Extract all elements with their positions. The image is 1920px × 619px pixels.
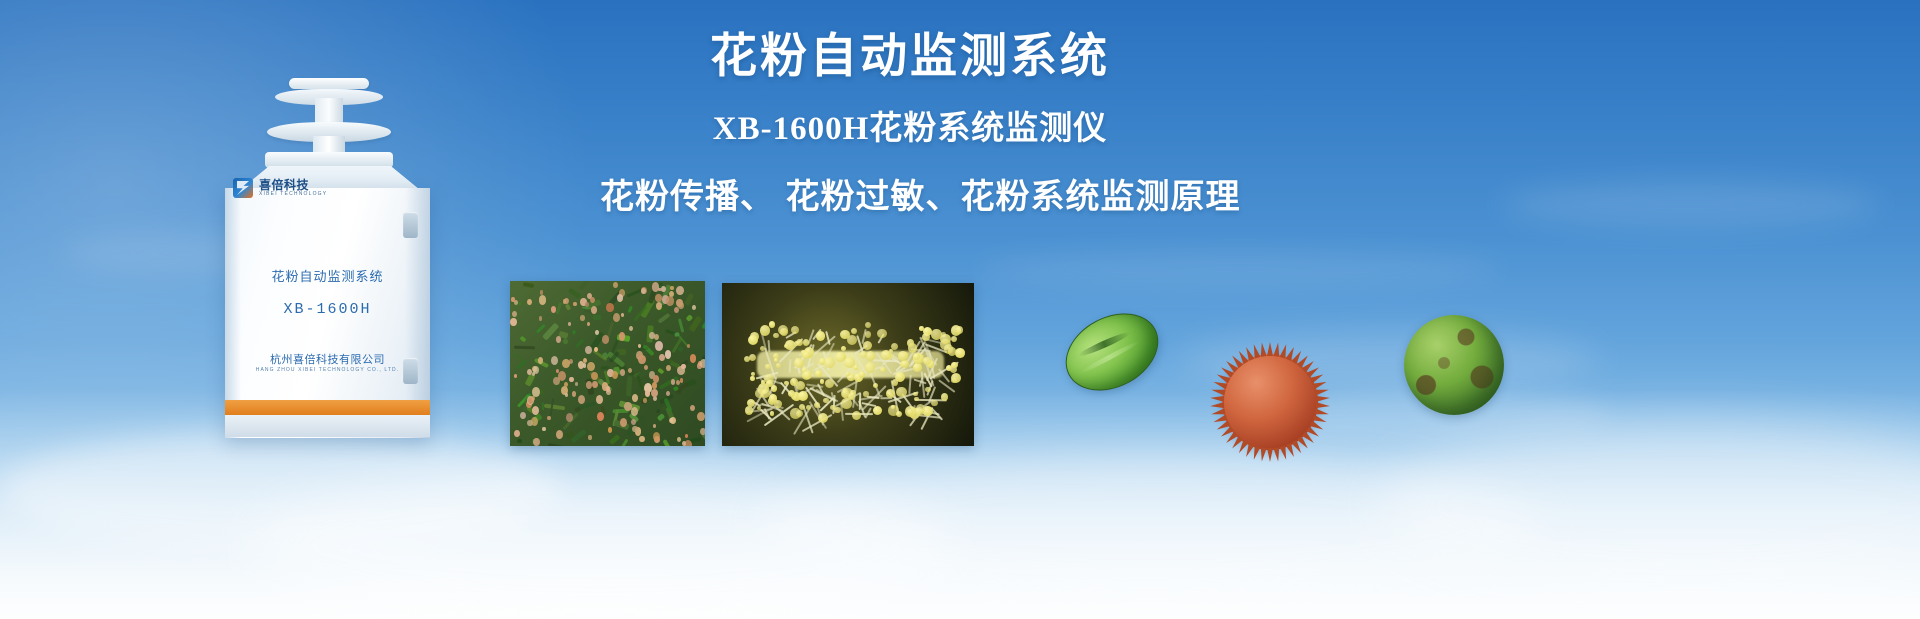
catkin-anther xyxy=(803,371,811,379)
cypress-cone xyxy=(551,356,558,365)
cypress-cone xyxy=(649,332,654,339)
catkin-filament xyxy=(908,375,911,394)
brand-name-cn: 喜倍科技 xyxy=(259,179,327,192)
catkin-anther xyxy=(913,363,922,372)
cypress-cone xyxy=(671,379,675,385)
cypress-cone xyxy=(652,282,659,291)
cypress-cone xyxy=(655,294,662,302)
catkin-anther xyxy=(951,362,958,369)
cypress-cone xyxy=(533,366,539,374)
catkin-anther xyxy=(788,390,795,397)
cypress-cone xyxy=(556,430,563,439)
catkin-anther xyxy=(745,406,754,415)
cypress-cone xyxy=(606,303,613,312)
cypress-cone xyxy=(587,322,591,327)
cypress-cone xyxy=(651,389,658,397)
cypress-foliage xyxy=(535,324,545,334)
cypress-foliage xyxy=(519,336,526,343)
cypress-cone xyxy=(613,282,618,288)
catkin-anther xyxy=(784,344,789,349)
cypress-cone xyxy=(511,297,515,302)
pollen-spine xyxy=(1210,402,1224,409)
cypress-cone xyxy=(514,374,517,378)
catkin-anther xyxy=(886,389,895,398)
cypress-cone xyxy=(564,382,568,387)
cloud-wisp xyxy=(980,250,1500,290)
brand-text: 喜倍科技 XIBEI TECHNOLOGY xyxy=(259,179,327,197)
cypress-cone xyxy=(690,354,697,362)
cypress-foliage xyxy=(639,414,644,419)
cypress-foliage xyxy=(677,319,684,333)
device-top-plate xyxy=(289,78,369,89)
device-latch-upper[interactable] xyxy=(403,212,418,238)
catkin-anther xyxy=(771,385,777,391)
cypress-cone xyxy=(592,381,598,389)
catkin-anther xyxy=(865,362,875,372)
cypress-cone xyxy=(547,416,551,421)
cypress-cone xyxy=(558,371,566,381)
catkin-anther xyxy=(841,346,846,351)
catkin-anther xyxy=(907,339,915,347)
cypress-cone xyxy=(685,434,688,438)
cypress-cone xyxy=(542,427,546,432)
catkin-anther xyxy=(951,373,962,384)
cypress-cone xyxy=(588,435,592,439)
xibei-logo-icon xyxy=(233,178,253,198)
pollen-analyzer-device: 喜倍科技 XIBEI TECHNOLOGY 花粉自动监测系统 XB-1600H … xyxy=(205,78,455,438)
cypress-cone xyxy=(670,286,674,291)
cypress-cone xyxy=(656,302,662,310)
cypress-foliage xyxy=(608,434,620,445)
cypress-cone xyxy=(639,436,644,443)
catkin-filament xyxy=(767,340,770,353)
cypress-cone xyxy=(687,344,690,348)
pollen-spine xyxy=(1267,448,1273,462)
cypress-foliage xyxy=(572,330,575,334)
cypress-cone xyxy=(578,361,584,368)
cypress-foliage xyxy=(523,282,534,288)
catkin-anther xyxy=(760,325,770,335)
spiky-grain xyxy=(1222,354,1318,450)
catkin-anther xyxy=(859,371,865,377)
pollen-spine xyxy=(1210,395,1224,402)
cypress-cone xyxy=(573,302,576,306)
catkin-anther xyxy=(941,393,949,401)
cypress-foliage xyxy=(628,306,633,313)
cypress-cone xyxy=(590,297,595,303)
catkin-anther xyxy=(806,405,811,410)
catkin-anther xyxy=(940,334,950,344)
warty-grain xyxy=(1404,315,1504,415)
cypress-cone xyxy=(620,369,626,376)
device-foot xyxy=(225,415,430,437)
cypress-cone xyxy=(652,382,657,389)
cypress-cone xyxy=(631,407,639,417)
page-title: 花粉自动监测系统 xyxy=(600,28,1220,83)
cloud-wisp xyxy=(1500,180,1880,228)
catkin-anther xyxy=(798,391,808,401)
catkin-anther xyxy=(896,387,906,397)
cypress-cone xyxy=(617,294,623,302)
cypress-foliage xyxy=(567,287,581,299)
cypress-cone xyxy=(690,405,695,412)
cypress-cone xyxy=(632,426,637,432)
catkin-anther xyxy=(818,413,829,424)
cypress-foliage xyxy=(662,407,666,412)
cypress-cone xyxy=(608,427,613,433)
catkin-anther xyxy=(846,372,850,376)
cypress-cone xyxy=(692,305,696,310)
catkin-anther xyxy=(803,339,810,346)
cypress-cone xyxy=(578,395,585,404)
catkin-anther xyxy=(955,348,964,357)
cypress-cone xyxy=(580,315,584,320)
catkin-anther xyxy=(769,321,776,328)
cypress-foliage xyxy=(514,346,535,350)
headline-block: 花粉自动监测系统 XB-1600H花粉系统监测仪 花粉传播、 花粉过敏、花粉系统… xyxy=(600,28,1220,218)
cypress-cone xyxy=(697,412,705,421)
cypress-cone xyxy=(676,286,684,296)
cypress-cone xyxy=(539,316,542,320)
cypress-foliage xyxy=(658,413,666,421)
cypress-cone xyxy=(655,341,663,351)
catkin-anther xyxy=(802,351,810,359)
catkin-anther xyxy=(925,387,930,392)
cypress-cone xyxy=(520,412,526,420)
cypress-foliage xyxy=(662,439,673,446)
catkin-anther xyxy=(892,379,899,386)
catkin-anther xyxy=(748,335,758,345)
device-model-label: XB-1600H xyxy=(225,301,430,318)
subtitle-model: XB-1600H花粉系统监测仪 xyxy=(600,101,1220,149)
catkin-anther xyxy=(791,326,799,334)
cypress-cone xyxy=(510,318,516,326)
catkin-anther xyxy=(760,346,765,351)
cypress-cone xyxy=(539,295,547,305)
cypress-cone xyxy=(666,296,673,305)
cypress-foliage xyxy=(565,304,571,311)
cypress-cone xyxy=(612,371,619,379)
cypress-cone xyxy=(514,430,520,437)
cypress-foliage xyxy=(636,376,643,390)
catkin-anther xyxy=(815,370,822,377)
pollen-spine xyxy=(1316,395,1330,402)
cypress-cone xyxy=(585,346,591,354)
cypress-cone xyxy=(527,299,532,305)
catkin-anther xyxy=(854,365,858,369)
catkin-anther xyxy=(919,326,924,331)
cypress-foliage xyxy=(544,404,565,411)
cypress-cone xyxy=(556,336,562,343)
device-product-label: 花粉自动监测系统 xyxy=(225,266,430,285)
cypress-cone xyxy=(665,350,672,358)
cypress-cone xyxy=(512,311,517,317)
catkin-anther xyxy=(844,357,855,368)
catkin-pollen-photo xyxy=(722,283,974,446)
cypress-cone xyxy=(631,419,636,426)
catkin-anther xyxy=(915,407,924,416)
device-latch-lower[interactable] xyxy=(403,358,418,384)
catkin-anther xyxy=(931,400,937,406)
brand-name-en: XIBEI TECHNOLOGY xyxy=(259,192,327,197)
cypress-foliage xyxy=(618,438,628,446)
catkin-anther xyxy=(896,411,902,417)
device-head-plate xyxy=(265,152,393,168)
cypress-cone xyxy=(602,335,609,343)
catkin-anther xyxy=(796,339,803,346)
catkin-anther xyxy=(944,344,954,354)
cypress-cone xyxy=(653,424,656,428)
catkin-anther xyxy=(816,331,826,341)
catkin-anther xyxy=(770,411,775,416)
catkin-anther xyxy=(951,336,957,342)
cypress-cone xyxy=(613,313,620,322)
catkin-anther xyxy=(877,329,887,339)
cypress-cone xyxy=(531,417,538,425)
catkin-anther xyxy=(913,392,917,396)
cypress-foliage xyxy=(576,339,585,348)
catkin-anther xyxy=(863,341,873,351)
catkin-anther xyxy=(820,379,825,384)
device-brand-logo: 喜倍科技 XIBEI TECHNOLOGY xyxy=(233,178,327,198)
cypress-cone xyxy=(629,326,633,331)
device-base-stripe xyxy=(225,400,430,415)
cypress-cone xyxy=(585,302,589,307)
catkin-anther xyxy=(840,330,850,340)
catkin-anther xyxy=(866,351,875,360)
cypress-foliage xyxy=(626,376,632,397)
cypress-foliage xyxy=(562,338,569,345)
cypress-cone xyxy=(700,428,705,435)
cypress-foliage xyxy=(685,314,692,321)
catkin-anther xyxy=(784,381,788,385)
cypress-cone xyxy=(654,334,659,340)
cypress-foliage xyxy=(579,281,591,290)
subtitle-topics: 花粉传播、 花粉过敏、花粉系统监测原理 xyxy=(600,169,1220,218)
cypress-cone xyxy=(562,359,569,368)
cypress-foliage xyxy=(689,365,694,371)
cypress-cone xyxy=(572,391,576,396)
cypress-foliage xyxy=(517,438,523,443)
cypress-cone xyxy=(621,313,624,317)
cypress-cone xyxy=(532,387,540,397)
cypress-cone xyxy=(659,354,665,361)
cypress-foliage xyxy=(658,368,665,374)
cypress-cone xyxy=(596,395,604,404)
cypress-cone xyxy=(700,359,705,368)
catkin-anther xyxy=(852,411,862,421)
cypress-cone xyxy=(531,396,535,401)
cypress-cones-photo xyxy=(510,281,705,446)
cypress-cone xyxy=(606,386,611,392)
catkin-anther xyxy=(744,356,750,362)
catkin-anther xyxy=(851,328,857,334)
cypress-cone xyxy=(533,438,540,446)
catkin-anther xyxy=(750,376,754,380)
cypress-foliage xyxy=(556,303,562,315)
cypress-cone xyxy=(568,322,571,326)
catkin-anther xyxy=(865,322,871,328)
cypress-cone xyxy=(569,377,574,383)
cypress-cone xyxy=(540,290,544,294)
device-company-en: HANG ZHOU XIBEI TECHNOLOGY CO., LTD. xyxy=(225,367,430,373)
device-company-cn: 杭州喜倍科技有限公司 xyxy=(225,351,430,367)
cypress-cone xyxy=(645,390,650,397)
cypress-cone xyxy=(564,298,569,304)
catkin-anther xyxy=(773,333,778,338)
cypress-cone xyxy=(575,382,578,386)
cypress-foliage xyxy=(516,358,528,369)
catkin-anther xyxy=(841,389,850,398)
cypress-cone xyxy=(565,393,568,397)
catkin-anther xyxy=(799,404,805,410)
catkin-anther xyxy=(751,372,755,376)
catkin-anther xyxy=(898,351,907,360)
cypress-cone xyxy=(680,378,684,382)
catkin-anther xyxy=(834,407,840,413)
cypress-cone xyxy=(644,365,648,370)
cypress-cone xyxy=(587,362,595,371)
cypress-foliage xyxy=(575,407,582,412)
cypress-cone xyxy=(597,412,604,421)
catkin-anther xyxy=(873,406,883,416)
cypress-cone xyxy=(569,359,573,364)
pollen-monitoring-banner: 花粉自动监测系统 XB-1600H花粉系统监测仪 花粉传播、 花粉过敏、花粉系统… xyxy=(0,0,1920,619)
catkin-anther xyxy=(776,363,781,368)
cypress-foliage xyxy=(548,443,570,446)
cypress-cone xyxy=(678,302,683,309)
cypress-foliage xyxy=(512,353,523,361)
cypress-foliage xyxy=(657,312,670,323)
cypress-foliage xyxy=(593,315,601,321)
catkin-anther xyxy=(956,326,964,334)
catkin-anther xyxy=(863,391,868,396)
cypress-cone xyxy=(681,364,685,369)
catkin-anther xyxy=(824,357,835,368)
catkin-anther xyxy=(880,367,885,372)
catkin-anther xyxy=(825,379,834,388)
pollen-spine xyxy=(1267,342,1273,356)
cypress-cone xyxy=(666,391,670,396)
catkin-anther xyxy=(865,331,872,338)
cypress-cone xyxy=(632,394,638,402)
cypress-cone xyxy=(591,306,597,314)
cypress-cone xyxy=(643,398,647,403)
cypress-cone xyxy=(666,365,671,371)
cypress-cone xyxy=(638,355,645,364)
